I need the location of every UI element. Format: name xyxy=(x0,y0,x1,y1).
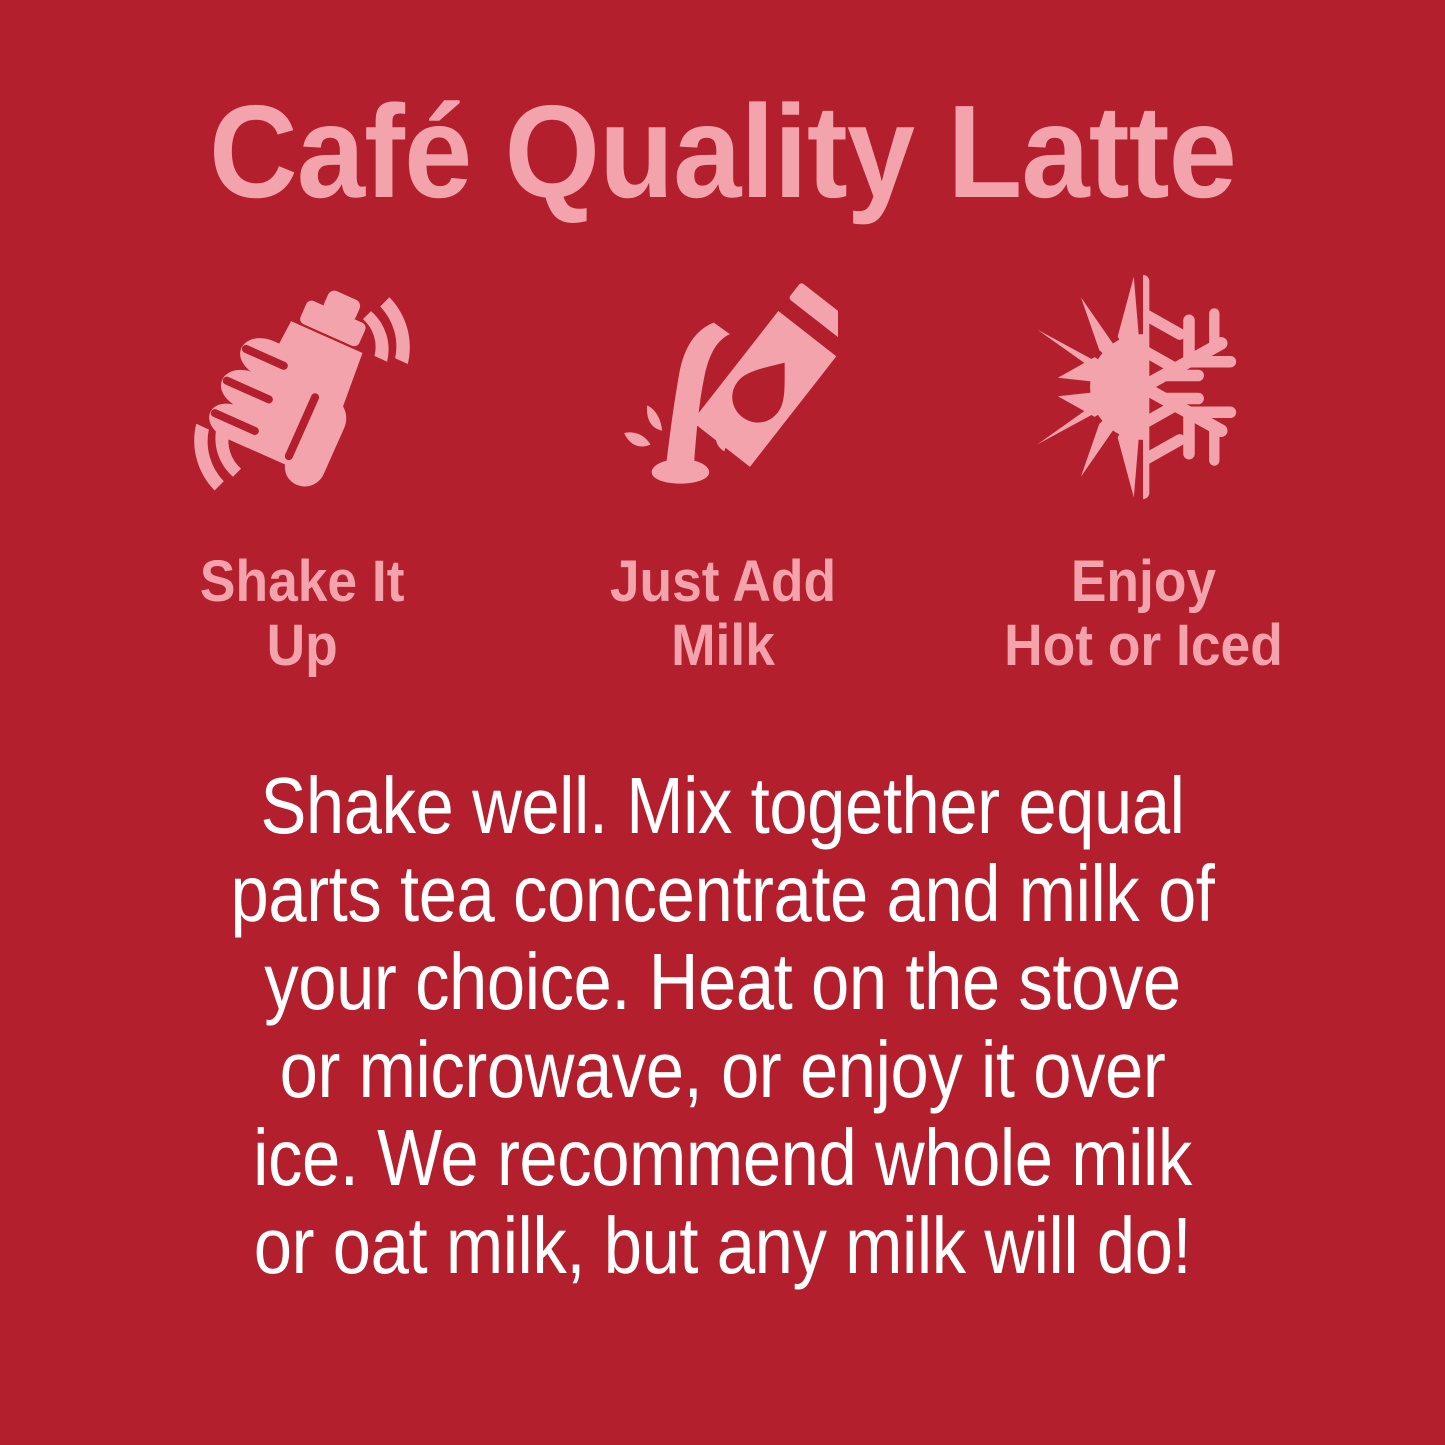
feature-label-line1: Enjoy xyxy=(1004,550,1283,614)
feature-label-shake-it-up: Shake It Up xyxy=(200,550,405,678)
product-instructions-panel: Café Quality Latte xyxy=(0,0,1445,1445)
feature-label-line1: Shake It xyxy=(200,550,405,614)
feature-enjoy-hot-or-iced: Enjoy Hot or Iced xyxy=(933,272,1353,678)
feature-shake-it-up: Shake It Up xyxy=(92,272,512,678)
sun-snowflake-icon xyxy=(1028,272,1258,502)
feature-label-line2: Hot or Iced xyxy=(1004,614,1283,678)
pouring-milk-carton-icon xyxy=(608,272,838,502)
shaking-carton-icon xyxy=(187,272,417,502)
feature-label-line1: Just Add xyxy=(609,550,835,614)
page-title: Café Quality Latte xyxy=(51,86,1395,218)
feature-label-enjoy-hot-or-iced: Enjoy Hot or Iced xyxy=(1004,550,1283,678)
feature-row: Shake It Up xyxy=(92,272,1353,678)
feature-just-add-milk: Just Add Milk xyxy=(513,272,933,678)
feature-label-just-add-milk: Just Add Milk xyxy=(609,550,835,678)
feature-label-line2: Milk xyxy=(609,614,835,678)
instructions-text: Shake well. Mix together equal parts tea… xyxy=(230,762,1215,1290)
feature-label-line2: Up xyxy=(200,614,405,678)
